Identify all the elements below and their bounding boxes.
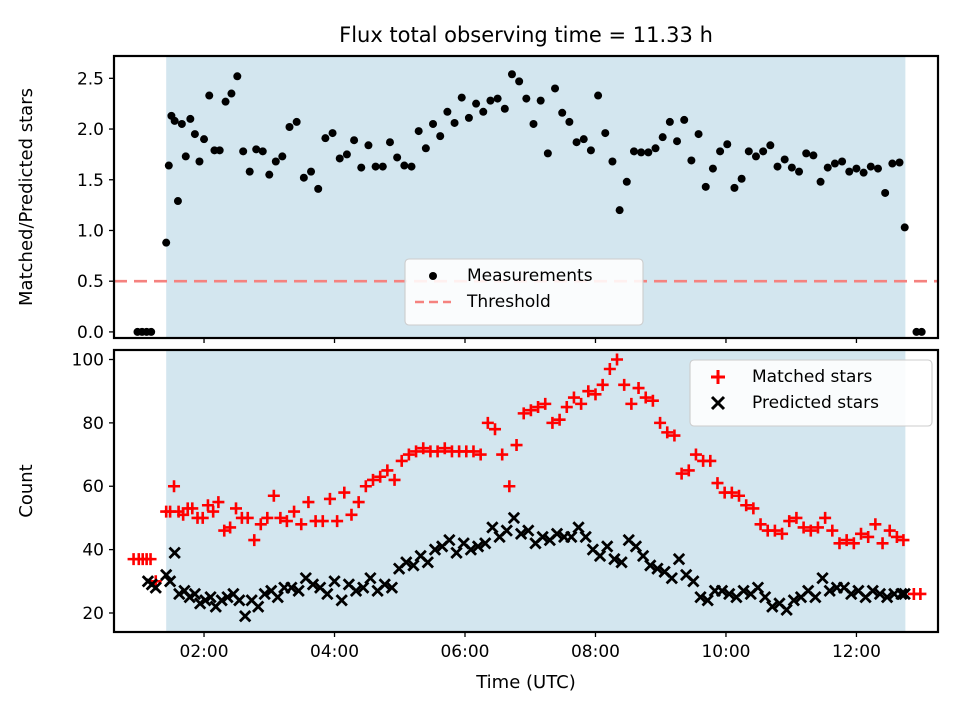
data-point <box>494 95 502 103</box>
data-point <box>479 108 487 116</box>
panel-bottom: 02:0004:0006:0008:0010:0012:002040608010… <box>16 350 938 693</box>
y-tick-label: 60 <box>82 477 104 497</box>
data-point <box>630 147 638 155</box>
data-point <box>222 98 230 106</box>
data-point <box>831 160 839 168</box>
x-tick-label: 08:00 <box>571 642 620 662</box>
data-point <box>408 163 416 171</box>
data-point <box>429 120 437 128</box>
data-point <box>458 94 466 102</box>
data-point <box>766 141 774 149</box>
data-point <box>702 183 710 191</box>
data-point <box>652 144 660 152</box>
data-point <box>788 164 796 172</box>
data-point <box>272 157 280 165</box>
data-point <box>817 178 825 186</box>
data-point <box>738 175 746 183</box>
legend-label: Predicted stars <box>752 393 879 413</box>
data-point <box>350 136 358 144</box>
data-point <box>300 174 308 182</box>
data-point <box>205 92 213 100</box>
data-point <box>709 165 717 173</box>
data-point <box>515 77 523 85</box>
data-point <box>162 239 170 247</box>
data-point <box>285 123 293 131</box>
data-point <box>246 168 254 176</box>
data-point <box>644 148 652 156</box>
data-point <box>259 147 267 155</box>
data-point <box>329 129 337 137</box>
data-point <box>336 154 344 162</box>
data-point <box>695 130 703 138</box>
y-tick-label: 1.5 <box>77 171 104 191</box>
data-point <box>451 119 459 127</box>
data-point <box>522 95 530 103</box>
data-point <box>307 168 315 176</box>
data-point <box>802 149 810 157</box>
data-point <box>265 171 273 179</box>
chart-title: Flux total observing time = 11.33 h <box>339 23 713 47</box>
data-point <box>901 223 909 231</box>
data-point <box>752 152 760 160</box>
data-point <box>178 120 186 128</box>
y-axis-label: Count <box>16 464 37 517</box>
legend-label: Measurements <box>467 266 593 286</box>
x-tick-label: 02:00 <box>180 642 229 662</box>
data-point <box>147 328 155 336</box>
data-point <box>659 133 667 141</box>
data-point <box>465 114 473 122</box>
legend-label: Matched stars <box>752 367 872 387</box>
data-point <box>171 117 179 125</box>
figure-canvas: 0.00.51.01.52.02.5Matched/Predicted star… <box>0 0 960 720</box>
data-point <box>623 178 631 186</box>
data-point <box>443 108 451 116</box>
data-point <box>888 160 896 168</box>
data-point <box>680 116 688 124</box>
data-point <box>486 97 494 105</box>
data-point <box>233 72 241 80</box>
data-point <box>781 155 789 163</box>
x-tick-label: 06:00 <box>440 642 489 662</box>
data-point <box>896 159 904 167</box>
y-tick-label: 40 <box>82 541 104 561</box>
data-point <box>551 84 559 92</box>
data-point <box>501 105 509 113</box>
data-point <box>278 152 286 160</box>
y-tick-label: 2.0 <box>77 120 104 140</box>
data-point <box>186 115 194 123</box>
data-point <box>852 165 860 173</box>
y-tick-label: 0.0 <box>77 323 104 343</box>
data-point <box>239 147 247 155</box>
data-point <box>321 134 329 142</box>
x-tick-label: 12:00 <box>832 642 881 662</box>
data-point <box>601 129 609 137</box>
data-point <box>824 164 832 172</box>
y-tick-label: 1.0 <box>77 221 104 241</box>
data-point <box>357 164 365 172</box>
data-point <box>216 146 224 154</box>
data-point <box>637 148 645 156</box>
data-point <box>544 149 552 157</box>
x-tick-label: 04:00 <box>310 642 359 662</box>
data-point <box>386 138 394 146</box>
data-point <box>565 118 573 126</box>
data-point <box>716 147 724 155</box>
data-point <box>558 109 566 117</box>
data-point <box>422 144 430 152</box>
legend-marker-measurements <box>429 272 437 280</box>
data-point <box>666 118 674 126</box>
data-point <box>730 184 738 192</box>
data-point <box>580 135 588 143</box>
data-point <box>608 157 616 165</box>
data-point <box>472 100 480 108</box>
panel-top: 0.00.51.01.52.02.5Matched/Predicted star… <box>16 23 938 343</box>
data-point <box>759 147 767 155</box>
legend-label: Threshold <box>466 292 551 312</box>
y-tick-label: 20 <box>82 604 104 624</box>
data-point <box>587 146 595 154</box>
data-point <box>537 97 545 105</box>
data-point <box>860 169 868 177</box>
x-tick-label: 10:00 <box>701 642 750 662</box>
y-tick-label: 100 <box>72 351 104 371</box>
data-point <box>227 90 235 98</box>
chart-svg: 0.00.51.01.52.02.5Matched/Predicted star… <box>0 0 960 720</box>
data-point <box>874 165 882 173</box>
data-point <box>379 163 387 171</box>
data-point <box>200 135 208 143</box>
data-point <box>723 140 731 148</box>
data-point <box>673 137 681 145</box>
data-point <box>795 168 803 176</box>
data-point <box>182 152 190 160</box>
data-point <box>415 127 423 135</box>
data-point <box>745 147 753 155</box>
data-point <box>530 120 538 128</box>
data-point <box>314 185 322 193</box>
data-point <box>508 70 516 78</box>
data-point <box>867 163 875 171</box>
y-tick-label: 2.5 <box>77 69 104 89</box>
data-point <box>914 588 926 600</box>
data-point <box>687 156 695 164</box>
data-point <box>918 328 926 336</box>
data-point <box>293 118 301 126</box>
data-point <box>845 168 853 176</box>
data-point <box>809 151 817 159</box>
data-point <box>372 163 380 171</box>
data-point <box>573 138 581 146</box>
y-axis-label: Matched/Predicted stars <box>16 88 37 306</box>
x-axis-label: Time (UTC) <box>475 672 576 693</box>
data-point <box>195 157 203 165</box>
data-point <box>838 157 846 165</box>
data-point <box>165 162 173 170</box>
data-point <box>616 206 624 214</box>
data-point <box>594 92 602 100</box>
data-point <box>364 141 372 149</box>
data-point <box>881 189 889 197</box>
data-point <box>393 153 401 161</box>
y-tick-label: 0.5 <box>77 272 104 292</box>
data-point <box>174 197 182 205</box>
data-point <box>191 130 199 138</box>
y-tick-label: 80 <box>82 414 104 434</box>
data-point <box>436 132 444 140</box>
data-point <box>774 163 782 171</box>
data-point <box>343 150 351 158</box>
data-point <box>400 162 408 170</box>
